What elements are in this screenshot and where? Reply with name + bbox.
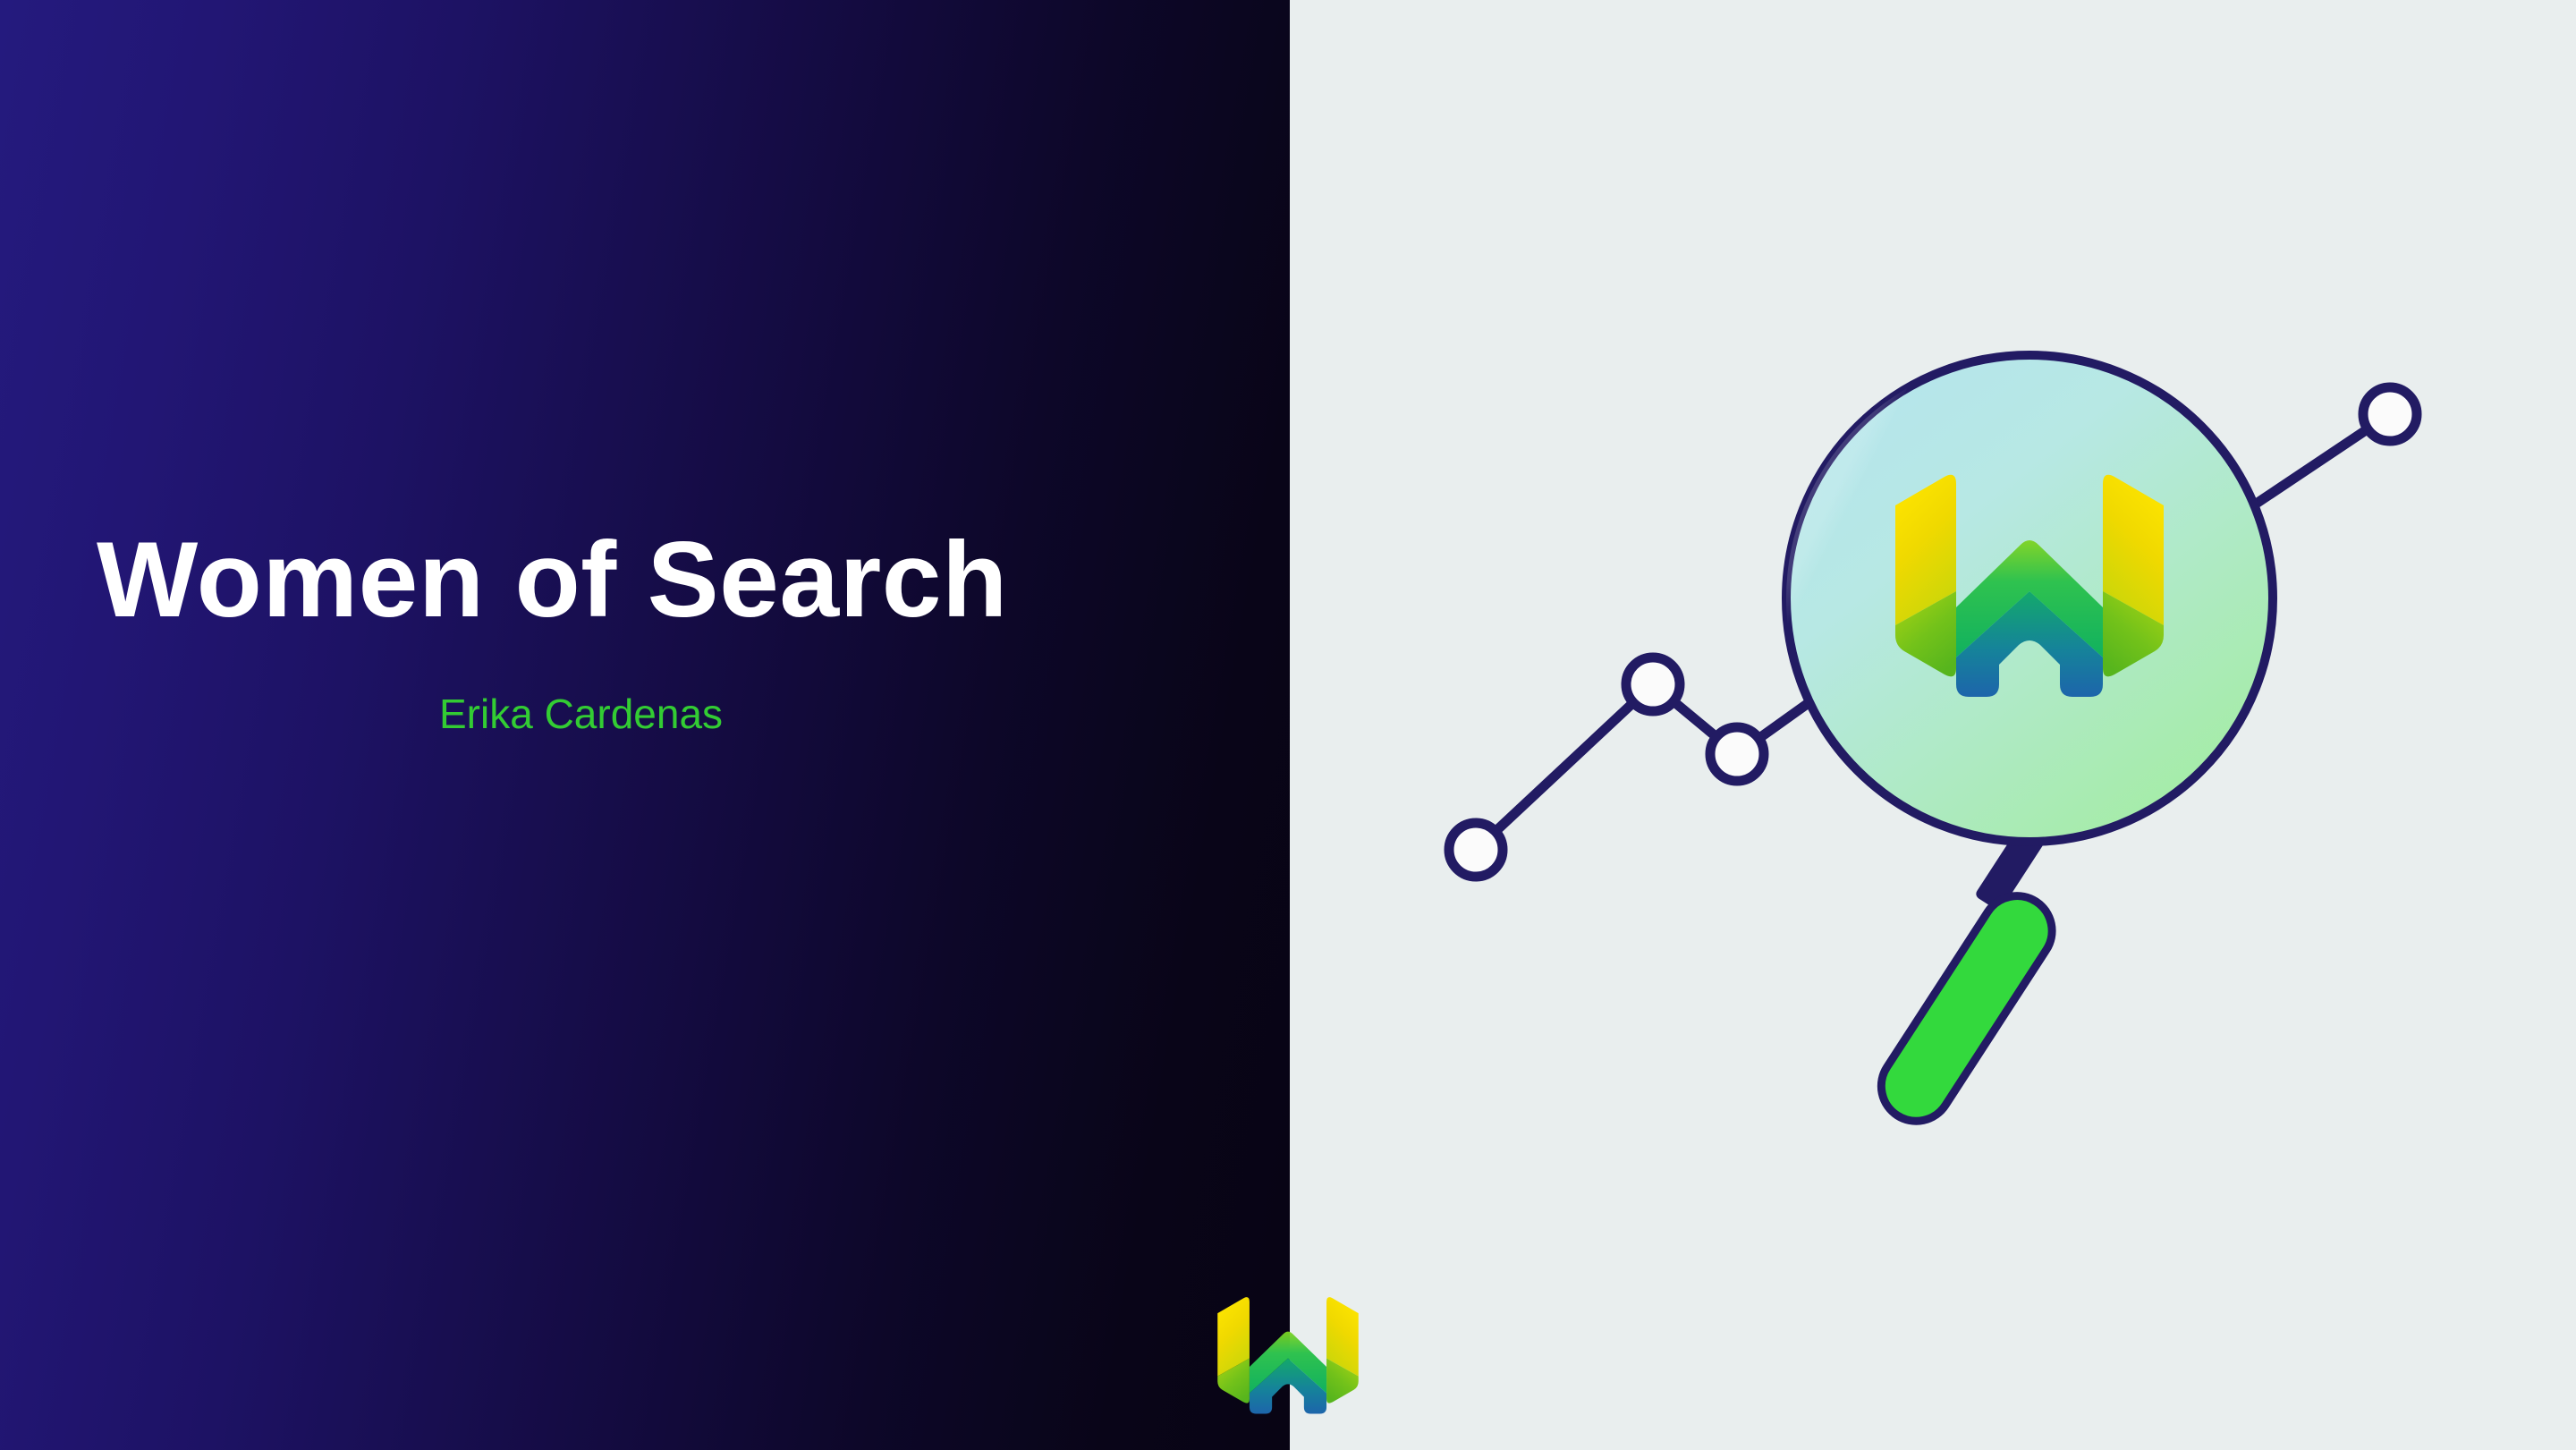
right-graphic-panel bbox=[1290, 0, 2576, 1450]
footer-logo bbox=[1197, 1292, 1379, 1404]
title-text-block: Women of Search Erika Cardenas bbox=[0, 0, 1290, 1450]
w-logo-icon bbox=[1197, 1292, 1379, 1404]
page-title: Women of Search bbox=[97, 526, 1008, 633]
presenter-name: Erika Cardenas bbox=[439, 693, 723, 734]
slide-canvas: Women of Search Erika Cardenas bbox=[0, 0, 2576, 1450]
